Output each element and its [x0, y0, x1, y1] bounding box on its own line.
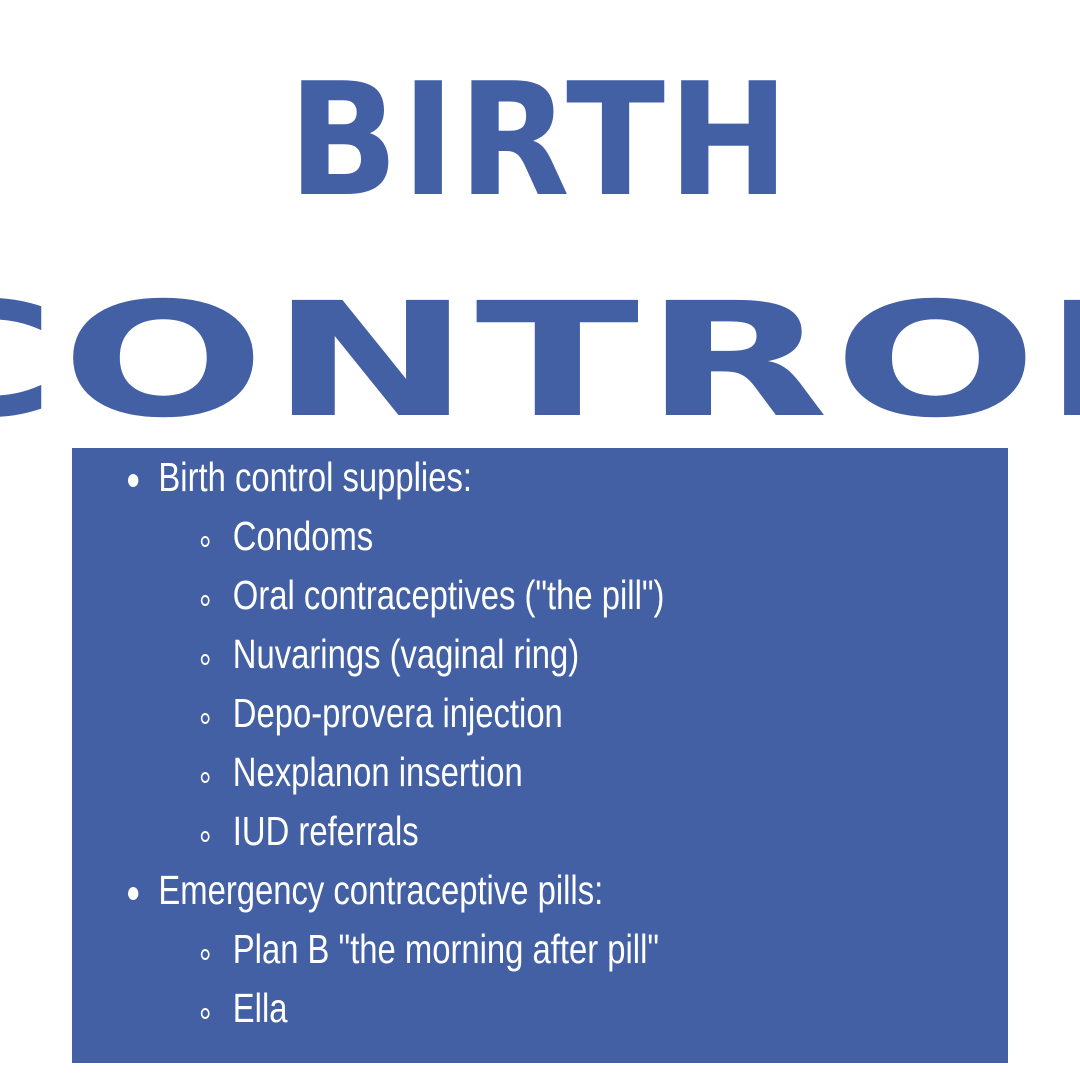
ring-shape: [201, 654, 210, 665]
list-item: Ella: [72, 979, 821, 1038]
ring-shape: [201, 713, 210, 724]
bullet-hollow-icon: [201, 920, 220, 979]
ring-shape: [201, 536, 210, 547]
bullet-hollow-icon: [201, 979, 220, 1038]
poster-title-line-2: CONTROL: [0, 282, 1080, 440]
bullet-hollow-icon: [201, 507, 220, 566]
poster-canvas: BIRTH CONTROL Birth control supplies:Con…: [0, 0, 1080, 1080]
bullet-filled-icon: [128, 861, 147, 920]
list-item-label: Nuvarings (vaginal ring): [233, 625, 579, 684]
list-item-label: Oral contraceptives ("the pill"): [233, 566, 665, 625]
list-item-label: Birth control supplies:: [158, 448, 472, 507]
bullet-hollow-icon: [201, 566, 220, 625]
list-item: IUD referrals: [72, 802, 821, 861]
list-item-label: Plan B "the morning after pill": [233, 920, 659, 979]
list-item: Condoms: [72, 507, 821, 566]
list-item: Emergency contraceptive pills:: [72, 861, 821, 920]
list-item-label: Ella: [233, 979, 288, 1038]
list-item: Oral contraceptives ("the pill"): [72, 566, 821, 625]
dot-shape: [128, 887, 138, 900]
bullet-hollow-icon: [201, 743, 220, 802]
ring-shape: [201, 595, 210, 606]
list-item-label: Condoms: [233, 507, 373, 566]
content-panel: Birth control supplies:CondomsOral contr…: [72, 448, 1008, 1063]
list-item: Depo-provera injection: [72, 684, 821, 743]
list-item-label: IUD referrals: [233, 802, 419, 861]
services-list: Birth control supplies:CondomsOral contr…: [72, 448, 1008, 1038]
bullet-hollow-icon: [201, 802, 220, 861]
ring-shape: [201, 1008, 210, 1019]
list-item: Nuvarings (vaginal ring): [72, 625, 821, 684]
poster-title-line-1: BIRTH: [38, 62, 1042, 218]
ring-shape: [201, 949, 210, 960]
ring-shape: [201, 772, 210, 783]
list-item: Nexplanon insertion: [72, 743, 821, 802]
bullet-filled-icon: [128, 448, 147, 507]
poster-title: BIRTH CONTROL: [0, 0, 1080, 448]
bullet-hollow-icon: [201, 684, 220, 743]
dot-shape: [128, 474, 138, 487]
list-item-label: Nexplanon insertion: [233, 743, 523, 802]
ring-shape: [201, 831, 210, 842]
list-item: Plan B "the morning after pill": [72, 920, 821, 979]
list-item-label: Emergency contraceptive pills:: [158, 861, 603, 920]
list-item-label: Depo-provera injection: [233, 684, 563, 743]
list-item: Birth control supplies:: [72, 448, 821, 507]
bullet-hollow-icon: [201, 625, 220, 684]
